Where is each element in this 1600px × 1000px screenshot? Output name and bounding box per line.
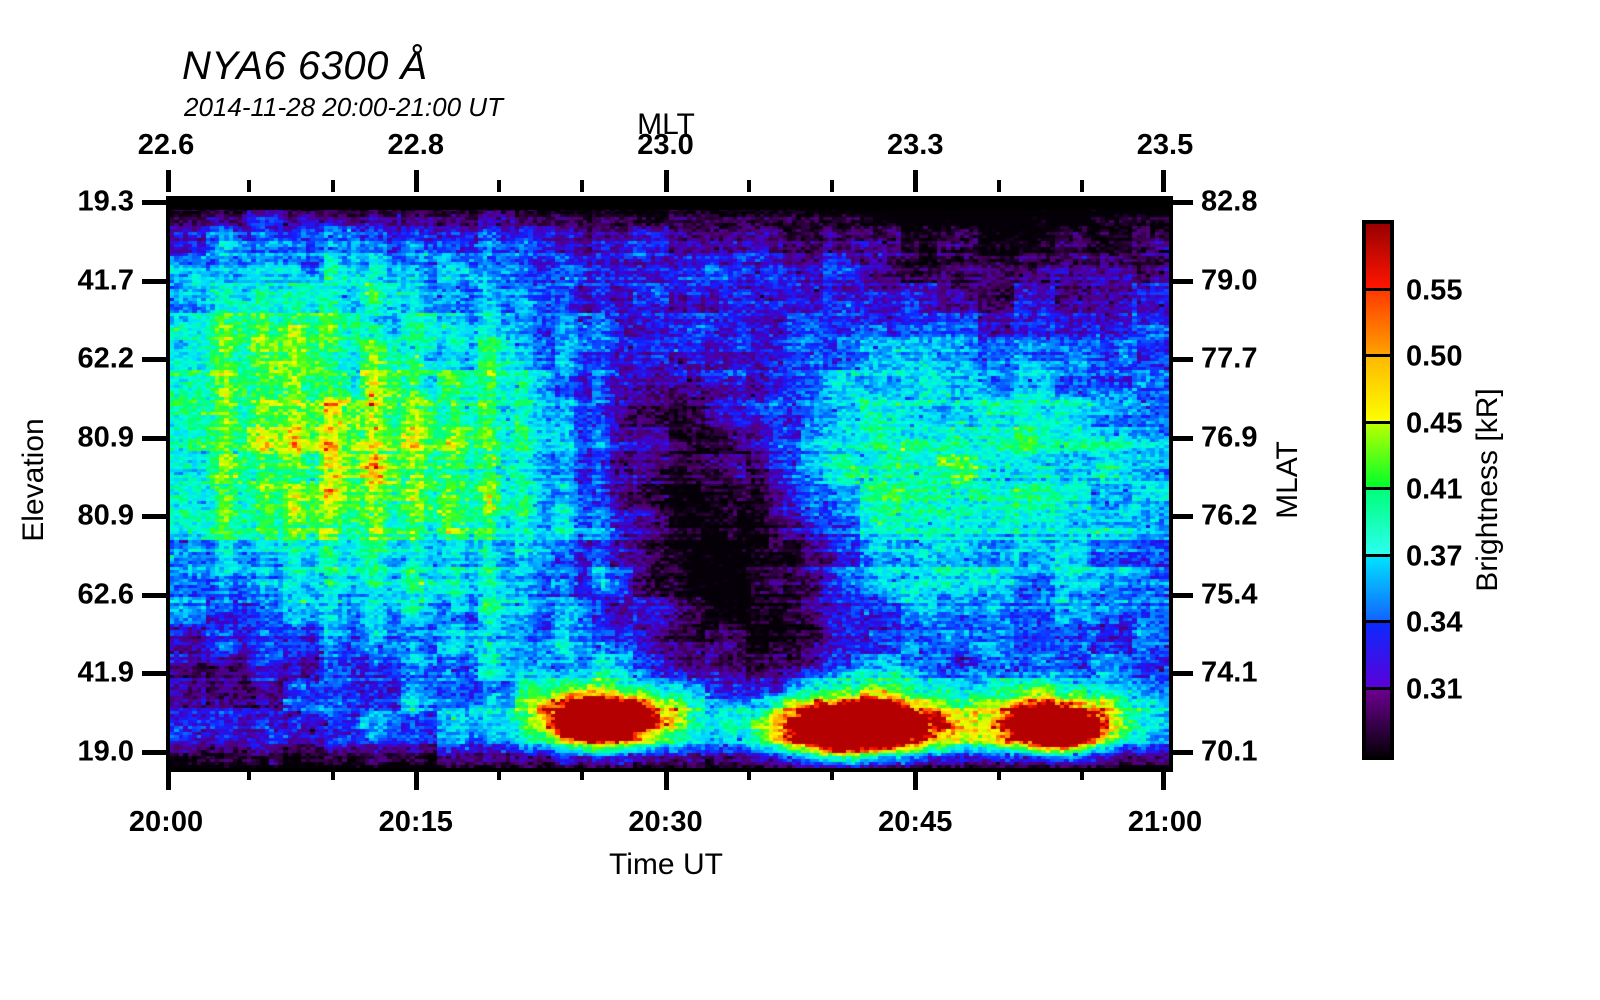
keogram-image — [170, 200, 1169, 768]
top-tick-label-4: 23.5 — [1137, 129, 1193, 162]
tick-left-6 — [142, 671, 166, 676]
tick-top-minor-2-1 — [747, 180, 751, 192]
tick-top-minor-0-1 — [247, 180, 251, 192]
tick-bottom-3 — [913, 768, 918, 790]
tick-left-7 — [142, 750, 166, 755]
left-tick-label-4: 80.9 — [78, 500, 134, 533]
colorbar-tick-label-6: 0.31 — [1406, 673, 1462, 706]
left-tick-label-1: 41.7 — [78, 264, 134, 297]
tick-top-3 — [913, 170, 918, 192]
tick-top-minor-3-2 — [1080, 180, 1084, 192]
tick-top-minor-0-2 — [331, 180, 335, 192]
colorbar: 0.550.500.450.410.370.340.31 — [1338, 220, 1394, 760]
tick-bottom-minor-2-2 — [830, 768, 834, 780]
left-tick-label-5: 62.6 — [78, 578, 134, 611]
tick-top-minor-2-2 — [830, 180, 834, 192]
tick-top-1 — [414, 170, 419, 192]
tick-bottom-minor-0-2 — [331, 768, 335, 780]
colorbar-tick-label-1: 0.50 — [1406, 341, 1462, 374]
tick-bottom-1 — [414, 768, 419, 790]
colorbar-tick-label-0: 0.55 — [1406, 274, 1462, 307]
left-tick-label-6: 41.9 — [78, 657, 134, 690]
tick-left-3 — [142, 436, 166, 441]
top-tick-label-2: 23.0 — [637, 129, 693, 162]
right-axis-title: MLAT — [1271, 441, 1305, 519]
colorbar-segment-4 — [1366, 490, 1390, 557]
tick-right-1 — [1169, 279, 1193, 284]
tick-right-2 — [1169, 357, 1193, 362]
bottom-axis-title: Time UT — [609, 848, 723, 882]
tick-right-7 — [1169, 750, 1193, 755]
left-tick-label-3: 80.9 — [78, 421, 134, 454]
tick-top-2 — [664, 170, 669, 192]
bottom-tick-label-4: 21:00 — [1128, 806, 1202, 839]
tick-bottom-4 — [1161, 768, 1166, 790]
tick-right-0 — [1169, 200, 1193, 205]
bottom-tick-label-2: 20:30 — [628, 806, 702, 839]
figure-subtitle: 2014-11-28 20:00-21:00 UT — [184, 92, 503, 123]
tick-bottom-minor-2-1 — [747, 768, 751, 780]
right-tick-label-4: 76.2 — [1201, 500, 1257, 533]
colorbar-tick-label-2: 0.45 — [1406, 407, 1462, 440]
tick-top-minor-3-1 — [997, 180, 1001, 192]
colorbar-segment-7 — [1366, 690, 1390, 757]
top-tick-label-1: 22.8 — [388, 129, 444, 162]
tick-left-5 — [142, 593, 166, 598]
colorbar-segment-5 — [1366, 557, 1390, 624]
tick-bottom-2 — [664, 768, 669, 790]
tick-bottom-0 — [166, 768, 171, 790]
right-tick-label-6: 74.1 — [1201, 657, 1257, 690]
top-tick-label-3: 23.3 — [887, 129, 943, 162]
figure-title: NYA6 6300 Å — [182, 44, 428, 89]
top-tick-label-0: 22.6 — [138, 129, 194, 162]
tick-right-3 — [1169, 436, 1193, 441]
colorbar-tick-label-3: 0.41 — [1406, 474, 1462, 507]
tick-left-2 — [142, 357, 166, 362]
colorbar-gradient — [1362, 220, 1394, 760]
left-tick-label-0: 19.3 — [78, 186, 134, 219]
colorbar-segment-1 — [1366, 291, 1390, 358]
right-tick-label-7: 70.1 — [1201, 736, 1257, 769]
colorbar-tick-label-4: 0.37 — [1406, 540, 1462, 573]
tick-top-0 — [166, 170, 171, 192]
tick-left-0 — [142, 200, 166, 205]
tick-left-4 — [142, 514, 166, 519]
right-tick-label-5: 75.4 — [1201, 578, 1257, 611]
tick-right-4 — [1169, 514, 1193, 519]
colorbar-title: Brightness [kR] — [1471, 388, 1505, 591]
bottom-tick-label-3: 20:45 — [878, 806, 952, 839]
right-tick-label-0: 82.8 — [1201, 186, 1257, 219]
left-tick-label-2: 62.2 — [78, 343, 134, 376]
tick-bottom-minor-1-1 — [497, 768, 501, 780]
colorbar-segment-6 — [1366, 623, 1390, 690]
keogram-figure: NYA6 6300 Å 2014-11-28 20:00-21:00 UT ML… — [0, 0, 1600, 1000]
left-axis-title: Elevation — [17, 418, 51, 541]
colorbar-segment-2 — [1366, 357, 1390, 424]
tick-top-minor-1-2 — [580, 180, 584, 192]
right-tick-label-3: 76.9 — [1201, 421, 1257, 454]
plot-area[interactable] — [166, 196, 1173, 772]
bottom-tick-label-1: 20:15 — [379, 806, 453, 839]
colorbar-segment-0 — [1366, 224, 1390, 291]
tick-bottom-minor-0-1 — [247, 768, 251, 780]
tick-bottom-minor-3-2 — [1080, 768, 1084, 780]
right-tick-label-2: 77.7 — [1201, 343, 1257, 376]
tick-right-6 — [1169, 671, 1193, 676]
tick-left-1 — [142, 279, 166, 284]
tick-top-4 — [1161, 170, 1166, 192]
tick-top-minor-1-1 — [497, 180, 501, 192]
tick-bottom-minor-3-1 — [997, 768, 1001, 780]
colorbar-tick-label-5: 0.34 — [1406, 607, 1462, 640]
tick-right-5 — [1169, 593, 1193, 598]
left-tick-label-7: 19.0 — [78, 736, 134, 769]
bottom-tick-label-0: 20:00 — [129, 806, 203, 839]
tick-bottom-minor-1-2 — [580, 768, 584, 780]
right-tick-label-1: 79.0 — [1201, 264, 1257, 297]
colorbar-segment-3 — [1366, 424, 1390, 491]
